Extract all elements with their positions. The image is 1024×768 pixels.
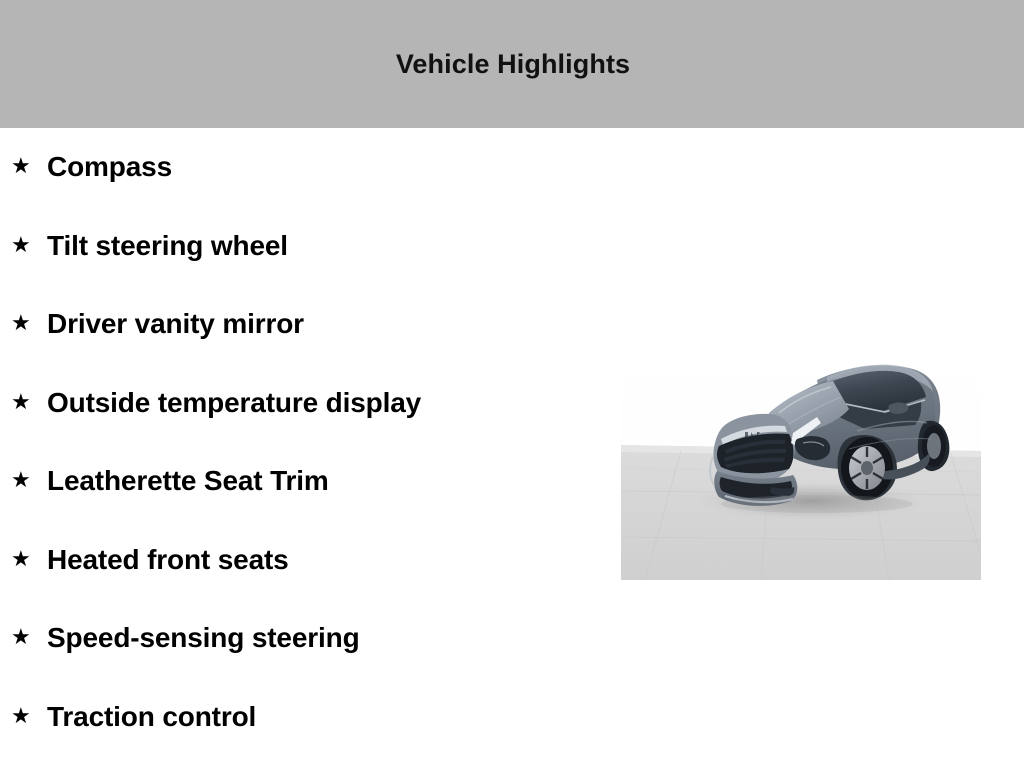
list-item: ★ Heated front seats xyxy=(0,521,600,600)
header-bar: Vehicle Highlights xyxy=(0,0,1024,128)
highlight-label: Leatherette Seat Trim xyxy=(47,465,600,497)
highlight-label: Traction control xyxy=(47,701,600,733)
highlight-label: Tilt steering wheel xyxy=(47,230,600,262)
highlight-label: Heated front seats xyxy=(47,544,600,576)
list-item: ★ Traction control xyxy=(0,678,600,757)
star-bullet-icon: ★ xyxy=(11,469,31,491)
star-bullet-icon: ★ xyxy=(11,548,31,570)
star-bullet-icon: ★ xyxy=(11,705,31,727)
vehicle-illustration xyxy=(621,305,981,580)
highlight-label: Speed-sensing steering xyxy=(47,622,600,654)
list-item: ★ Compass xyxy=(0,128,600,207)
vehicle-highlights-list: ★ Compass ★ Tilt steering wheel ★ Driver… xyxy=(0,128,600,756)
list-item: ★ Leatherette Seat Trim xyxy=(0,442,600,521)
list-item: ★ Tilt steering wheel xyxy=(0,207,600,286)
vehicle-photo xyxy=(621,305,981,580)
list-item: ★ Driver vanity mirror xyxy=(0,285,600,364)
page-title: Vehicle Highlights xyxy=(1,47,1024,81)
list-item: ★ Speed-sensing steering xyxy=(0,599,600,678)
star-bullet-icon: ★ xyxy=(11,155,31,177)
star-bullet-icon: ★ xyxy=(11,626,31,648)
star-bullet-icon: ★ xyxy=(11,234,31,256)
highlight-label: Driver vanity mirror xyxy=(47,308,600,340)
vehicle-highlights-page: Vehicle Highlights ★ Compass ★ Tilt stee… xyxy=(0,0,1024,768)
highlight-label: Outside temperature display xyxy=(47,387,600,419)
star-bullet-icon: ★ xyxy=(11,391,31,413)
highlight-label: Compass xyxy=(47,151,600,183)
star-bullet-icon: ★ xyxy=(11,312,31,334)
list-item: ★ Outside temperature display xyxy=(0,364,600,443)
